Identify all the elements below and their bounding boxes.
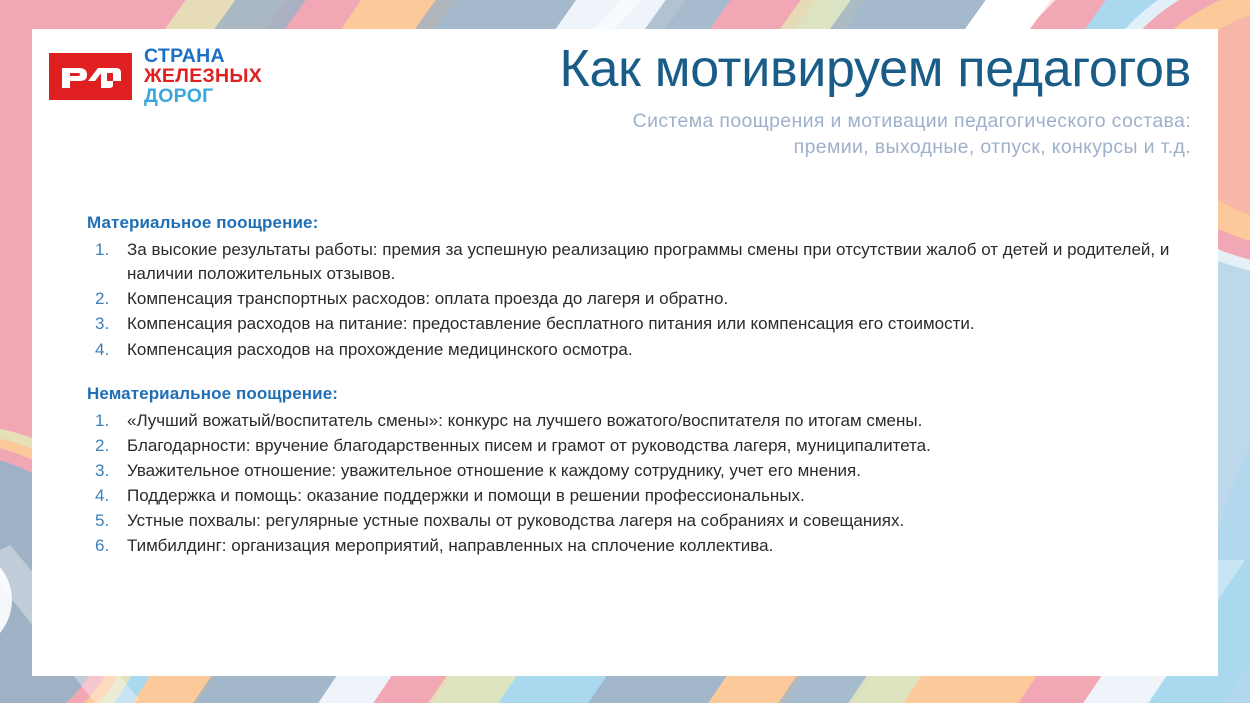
wordmark-line-3: ДОРОГ — [144, 87, 262, 107]
page-title: Как мотивируем педагогов — [471, 43, 1191, 96]
list-item: Компенсация расходов на прохождение меди… — [87, 338, 1178, 362]
list-item: «Лучший вожатый/воспитатель смены»: конк… — [87, 409, 1178, 433]
brand-wordmark: СТРАНА ЖЕЛЕЗНЫХ ДОРОГ — [144, 47, 262, 107]
slide-root: СТРАНА ЖЕЛЕЗНЫХ ДОРОГ Как мотивируем пед… — [0, 0, 1250, 703]
list-item: Тимбилдинг: организация мероприятий, нап… — [87, 534, 1178, 558]
subtitle-line-2: премии, выходные, отпуск, конкурсы и т.д… — [471, 134, 1191, 160]
rzd-logo-icon — [49, 53, 132, 100]
list-item: Устные похвалы: регулярные устные похвал… — [87, 509, 1178, 533]
brand-logo-lockup: СТРАНА ЖЕЛЕЗНЫХ ДОРОГ — [49, 47, 262, 107]
list-item: Компенсация расходов на питание: предост… — [87, 312, 1178, 336]
content-body: Материальное поощрение: За высокие резул… — [87, 213, 1178, 559]
section-material-incentives: Материальное поощрение: За высокие резул… — [87, 213, 1178, 362]
list-item: За высокие результаты работы: премия за … — [87, 238, 1178, 286]
title-block: Как мотивируем педагогов Система поощрен… — [471, 43, 1191, 161]
wordmark-line-1: СТРАНА — [144, 47, 262, 67]
numbered-list: «Лучший вожатый/воспитатель смены»: конк… — [87, 409, 1178, 559]
list-item: Поддержка и помощь: оказание поддержки и… — [87, 484, 1178, 508]
section-heading: Материальное поощрение: — [87, 213, 1178, 233]
section-heading: Нематериальное поощрение: — [87, 384, 1178, 404]
wordmark-line-2: ЖЕЛЕЗНЫХ — [144, 67, 262, 87]
list-item: Благодарности: вручение благодарственных… — [87, 434, 1178, 458]
subtitle-line-1: Система поощрения и мотивации педагогиче… — [471, 108, 1191, 134]
numbered-list: За высокие результаты работы: премия за … — [87, 238, 1178, 362]
section-nonmaterial-incentives: Нематериальное поощрение: «Лучший вожаты… — [87, 384, 1178, 559]
slide-content-card: СТРАНА ЖЕЛЕЗНЫХ ДОРОГ Как мотивируем пед… — [32, 29, 1218, 676]
list-item: Уважительное отношение: уважительное отн… — [87, 459, 1178, 483]
list-item: Компенсация транспортных расходов: оплат… — [87, 287, 1178, 311]
page-subtitle: Система поощрения и мотивации педагогиче… — [471, 108, 1191, 161]
